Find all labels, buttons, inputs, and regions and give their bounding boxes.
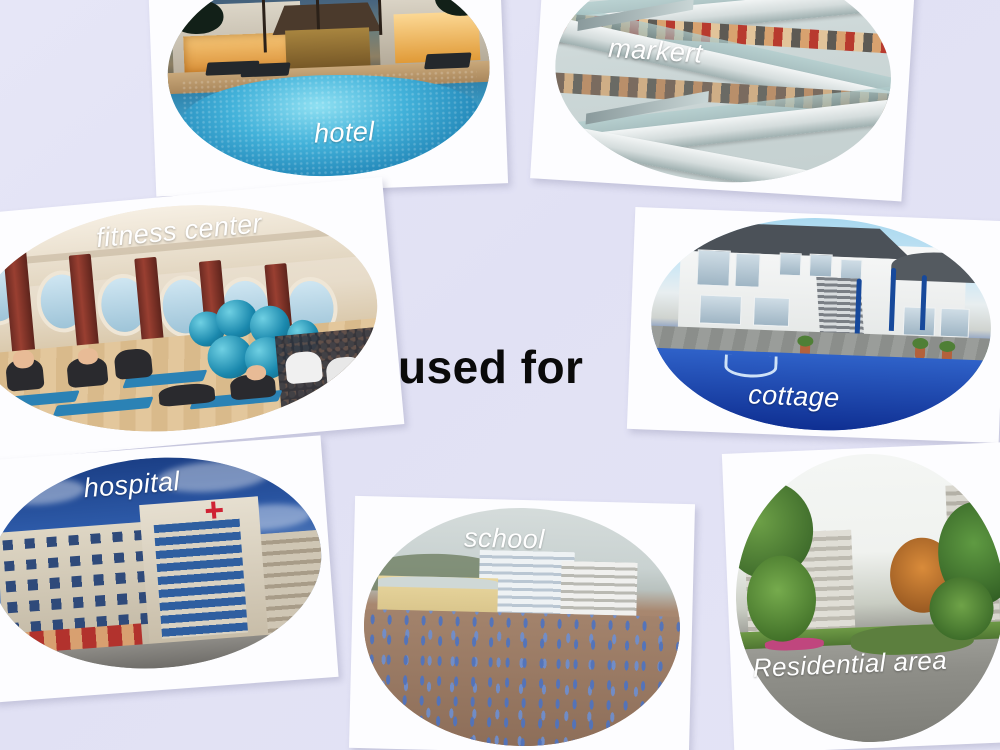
card-label-markert: markert xyxy=(607,33,703,70)
shopping-mall-photo xyxy=(549,0,898,192)
photo-card-fitness-center[interactable]: fitness center xyxy=(0,177,404,463)
slide-canvas: hotel markert xyxy=(0,0,1000,750)
photo-card-hotel[interactable]: hotel xyxy=(148,0,508,197)
oval-photo-frame xyxy=(549,0,898,192)
resort-pool-photo xyxy=(164,0,494,182)
card-label-hotel: hotel xyxy=(313,116,375,149)
photo-card-school[interactable]: school xyxy=(349,496,695,750)
photo-card-hospital[interactable]: hospital xyxy=(0,435,339,702)
card-label-school: school xyxy=(464,523,545,556)
photo-card-residential-area[interactable]: Residential area xyxy=(722,442,1000,750)
oval-photo-frame xyxy=(730,448,1000,747)
residential-street-photo xyxy=(730,448,1000,747)
oval-photo-frame xyxy=(164,0,494,182)
photo-card-markert[interactable]: markert xyxy=(530,0,916,201)
page-title: used for xyxy=(398,340,583,394)
photo-card-cottage[interactable]: cottage xyxy=(627,207,1000,443)
card-label-cottage: cottage xyxy=(748,379,840,413)
